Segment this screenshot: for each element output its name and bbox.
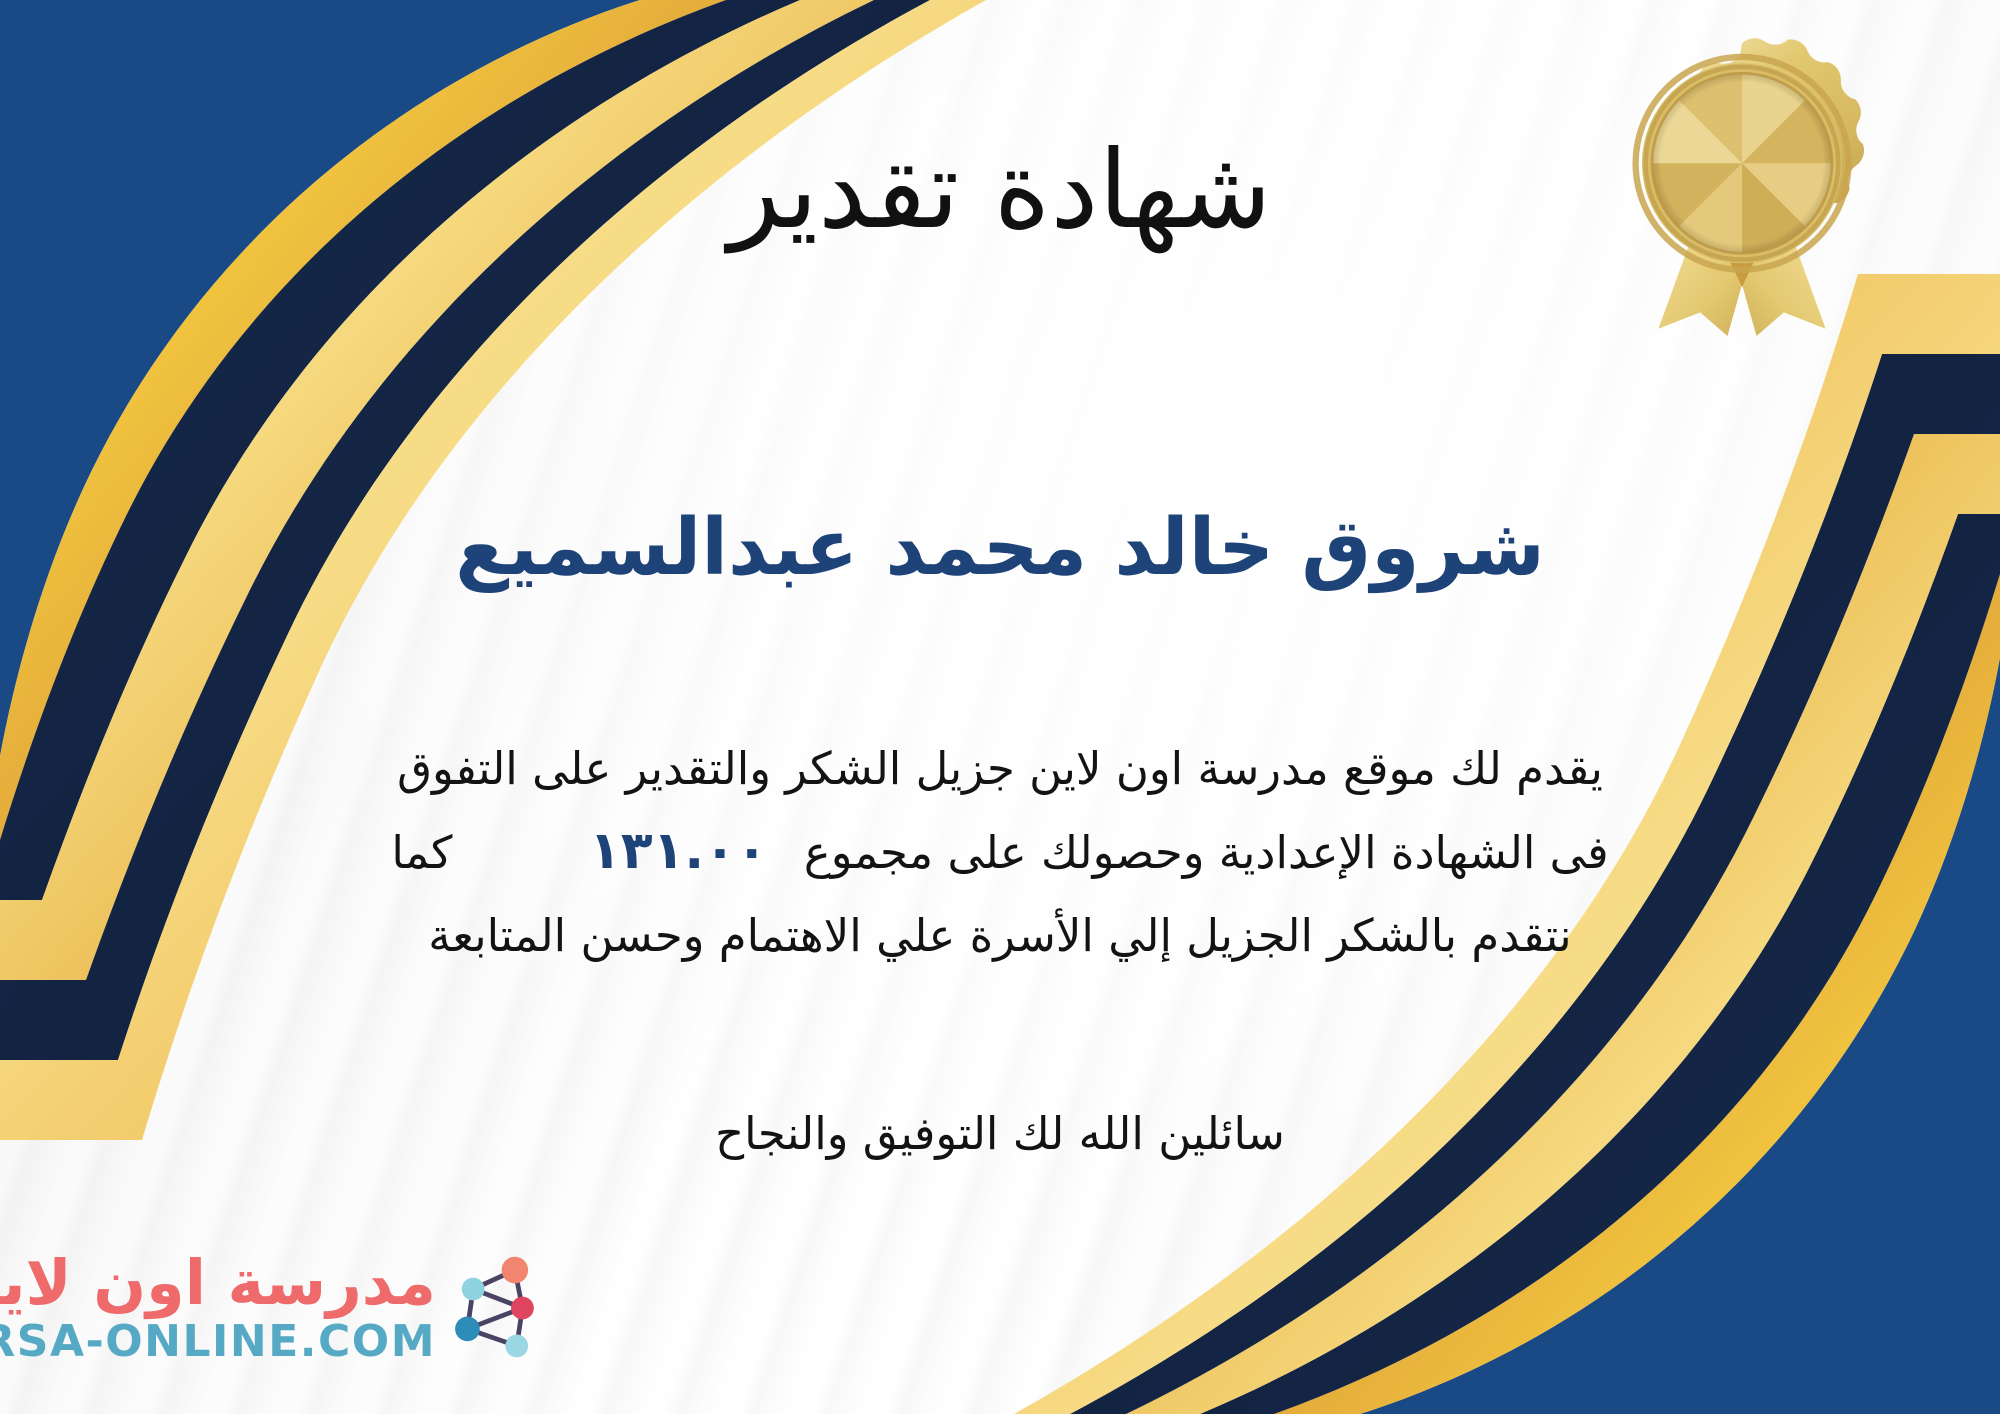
body-line-2: فى الشهادة الإعدادية وحصولك على مجموع ١٣… xyxy=(90,807,1910,896)
body-line-2-prefix: فى الشهادة الإعدادية وحصولك على مجموع xyxy=(804,826,1609,879)
brand-logo[interactable]: مدرسة اون لاين MADRSA-ONLINE.COM xyxy=(22,1224,542,1392)
closing-wish-line: سائلين الله لك التوفيق والنجاح xyxy=(0,1098,2000,1170)
certificate-content: شهادة تقدير شروق خالد محمد عبدالسميع يقد… xyxy=(0,0,2000,1414)
brand-wordmark: مدرسة اون لاين MADRSA-ONLINE.COM xyxy=(0,1252,436,1364)
body-line-3: نتقدم بالشكر الجزيل إلي الأسرة علي الاهت… xyxy=(90,897,1910,974)
page-title: شهادة تقدير xyxy=(0,132,2000,251)
grade-total-value: ١٣١.٠٠ xyxy=(567,807,789,896)
body-line-1: يقدم لك موقع مدرسة اون لاين جزيل الشكر و… xyxy=(90,730,1910,807)
recipient-name: شروق خالد محمد عبدالسميع xyxy=(0,500,2000,598)
certificate-body-text: يقدم لك موقع مدرسة اون لاين جزيل الشكر و… xyxy=(90,730,1910,974)
brand-name-arabic: مدرسة اون لاين xyxy=(0,1252,436,1314)
body-line-2-suffix: كما xyxy=(391,826,452,879)
network-nodes-icon xyxy=(446,1253,542,1363)
certificate-page: شهادة تقدير شروق خالد محمد عبدالسميع يقد… xyxy=(0,0,2000,1414)
brand-website-url: MADRSA-ONLINE.COM xyxy=(0,1320,436,1364)
